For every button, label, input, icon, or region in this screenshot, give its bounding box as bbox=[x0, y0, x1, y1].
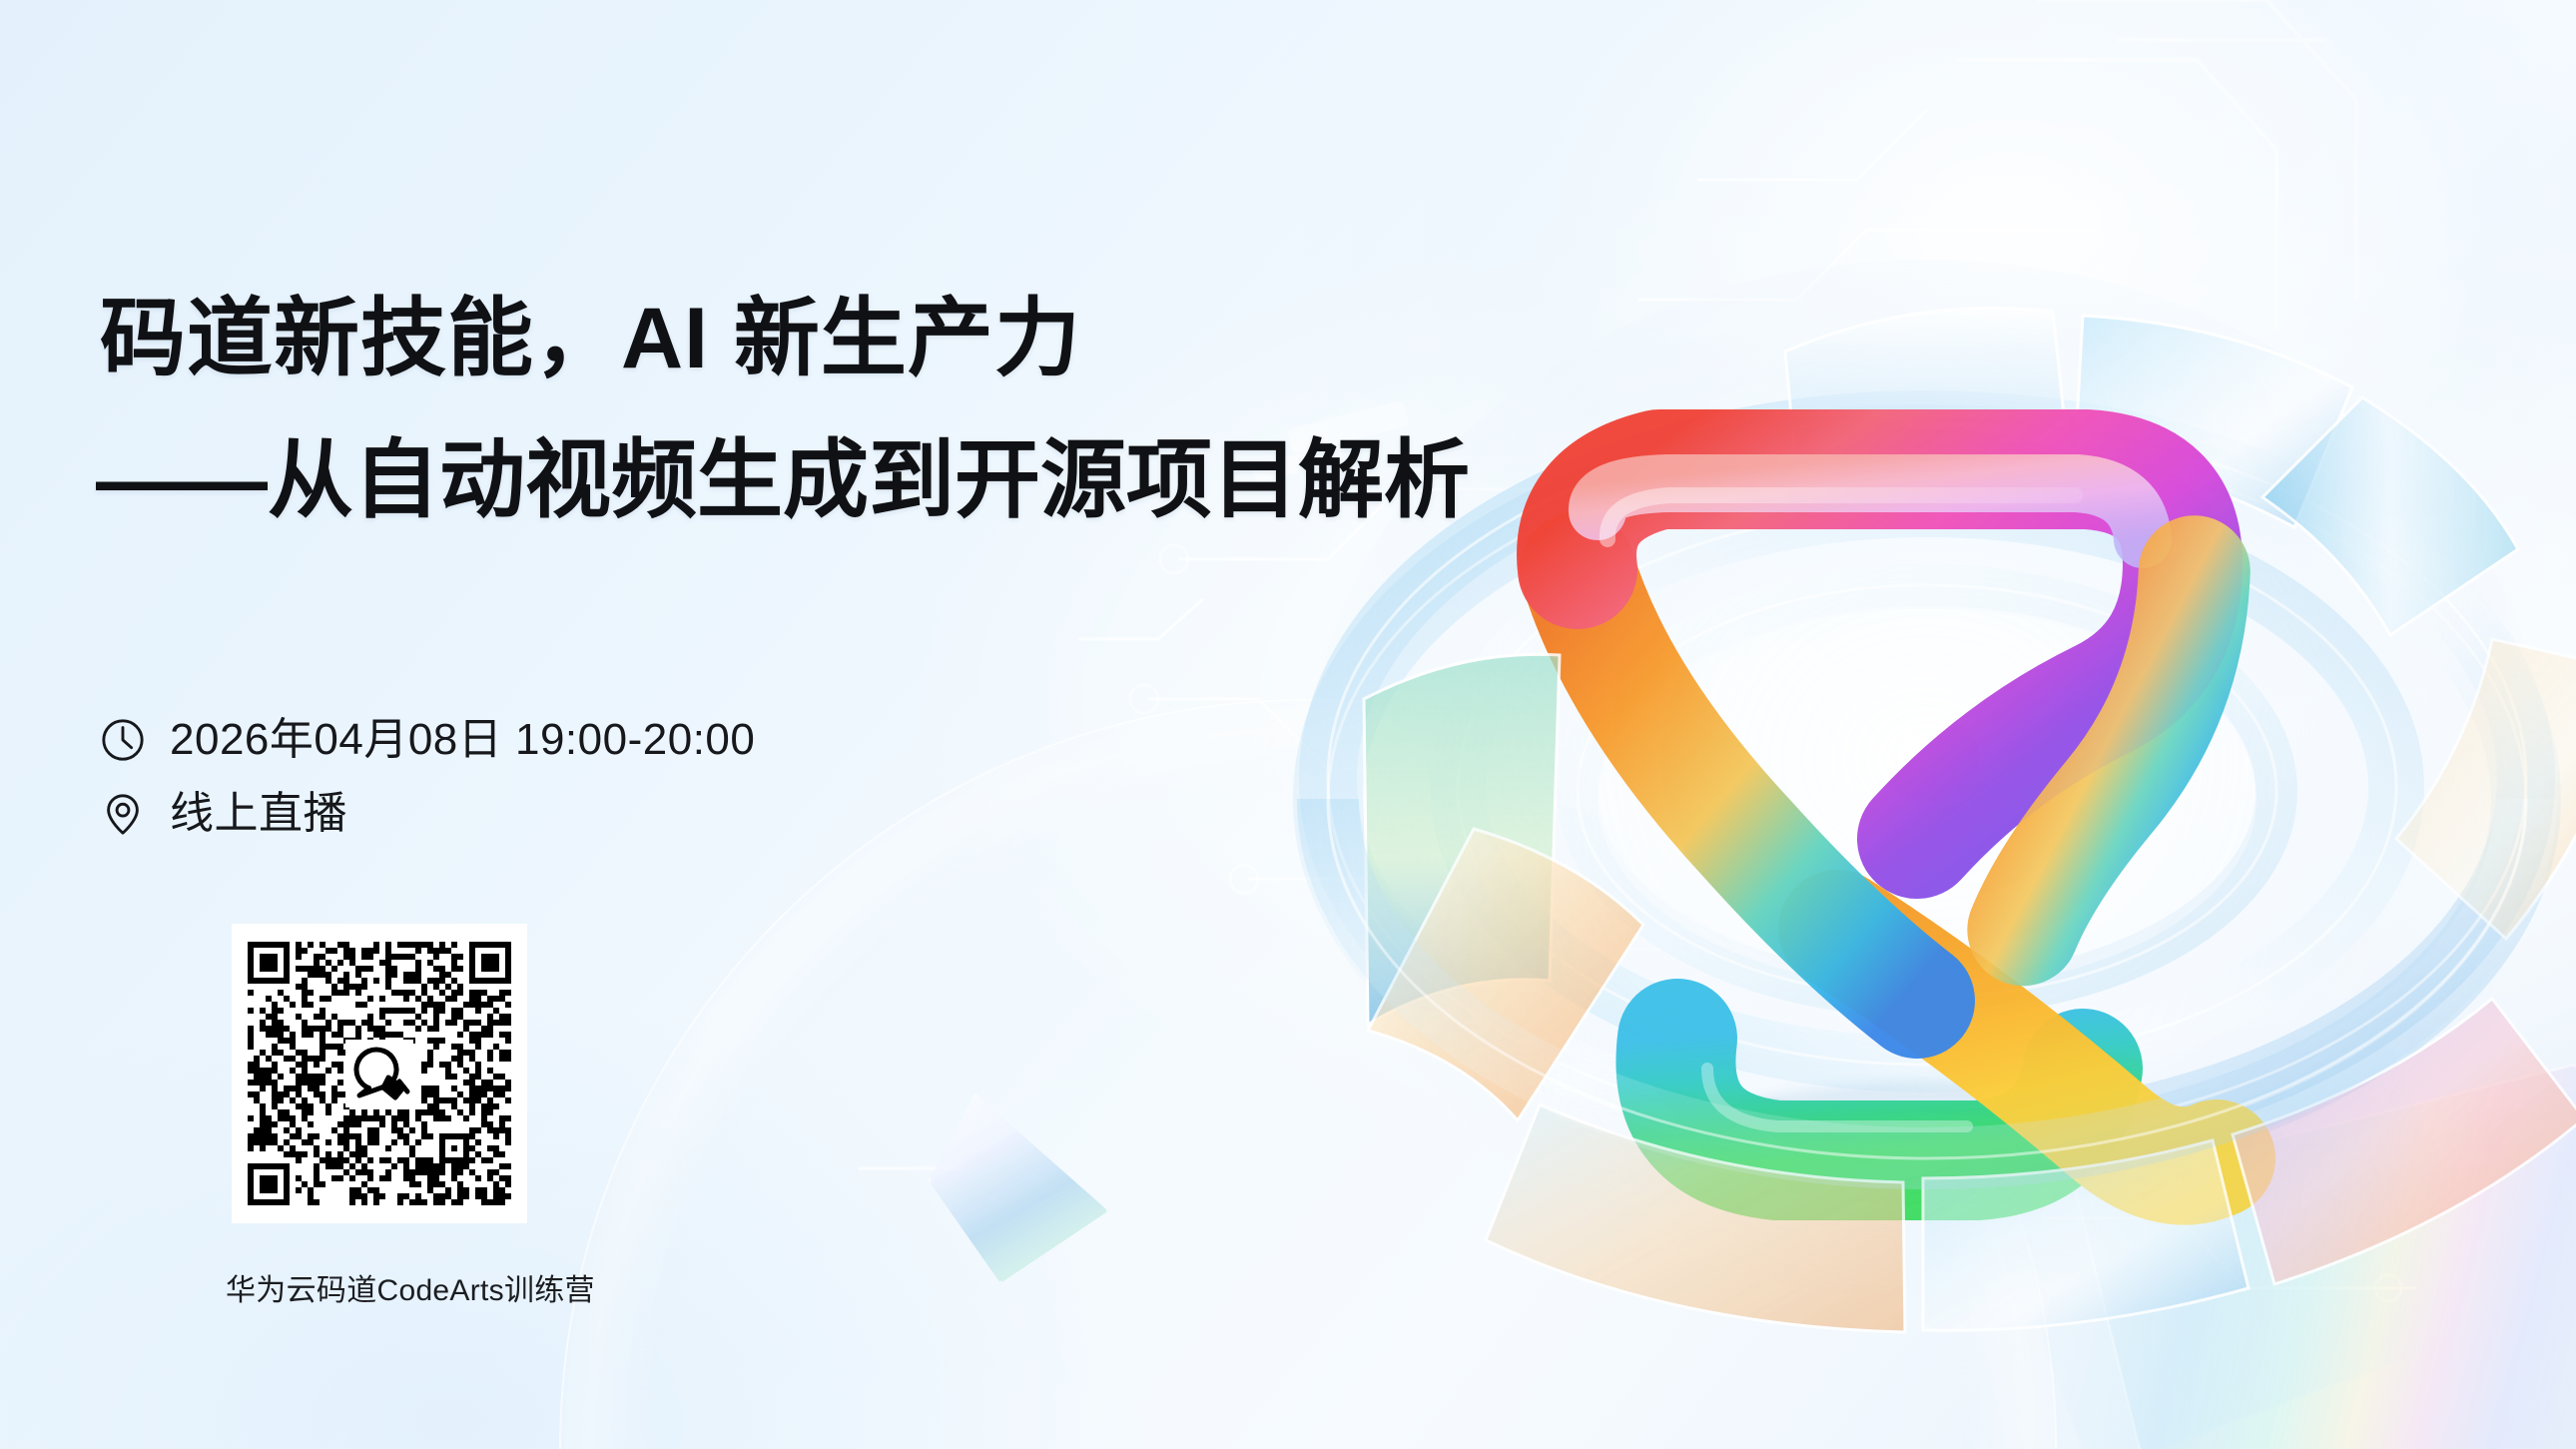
datetime-text: 2026年04月08日 19:00-20:00 bbox=[170, 718, 755, 762]
location-text: 线上直播 bbox=[170, 792, 347, 836]
location-row: 线上直播 bbox=[100, 791, 1098, 837]
clock-icon bbox=[100, 717, 146, 763]
qr-code-canvas[interactable] bbox=[248, 942, 511, 1205]
datetime-row: 2026年04月08日 19:00-20:00 bbox=[100, 717, 1098, 763]
title-line-1: 码道新技能，AI 新生产力 bbox=[96, 296, 1254, 381]
event-meta: 2026年04月08日 19:00-20:00 线上直播 bbox=[100, 717, 1098, 865]
qr-block: 华为云码道CodeArts训练营 bbox=[232, 924, 531, 1309]
webinar-banner: 码道新技能，AI 新生产力 ——从自动视频生成到开源项目解析 2026年04月0… bbox=[0, 0, 2576, 1449]
qr-code[interactable] bbox=[232, 924, 527, 1223]
content-column: 码道新技能，AI 新生产力 ——从自动视频生成到开源项目解析 2026年04月0… bbox=[96, 0, 1274, 1449]
qr-caption: 华为云码道CodeArts训练营 bbox=[226, 1265, 525, 1309]
location-pin-icon bbox=[100, 791, 146, 837]
title-block: 码道新技能，AI 新生产力 ——从自动视频生成到开源项目解析 bbox=[96, 296, 1254, 523]
title-line-2: ——从自动视频生成到开源项目解析 bbox=[96, 437, 1254, 523]
codearts-3d-ribbon-logo bbox=[1278, 140, 2576, 1368]
